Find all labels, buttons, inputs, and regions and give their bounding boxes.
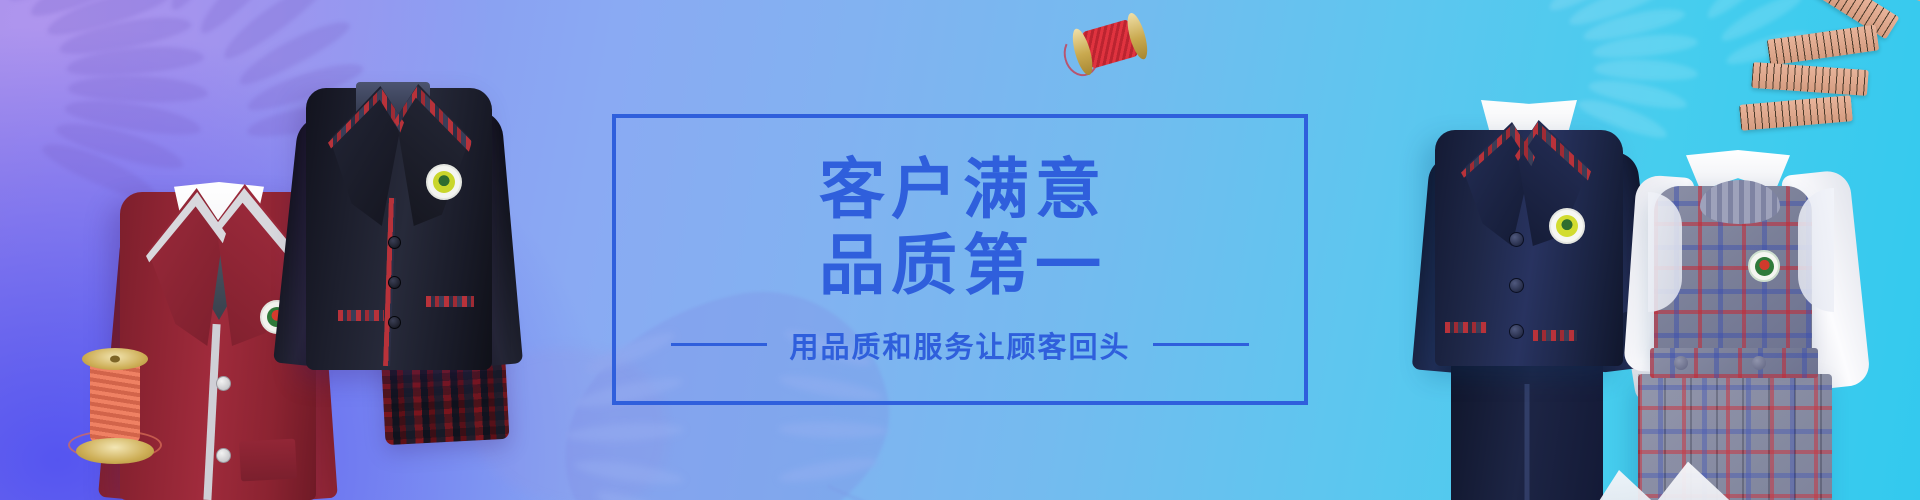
- product-dark-blazer: [290, 58, 506, 398]
- measuring-tape-icon: [1742, 0, 1920, 152]
- blazer-button: [388, 276, 401, 289]
- orange-thread-spool-icon: [72, 348, 158, 464]
- blazer-button: [216, 376, 231, 391]
- headline-block: 客户满意 品质第一 用品质和服务让顾客回头: [612, 114, 1308, 405]
- armhole-right: [1798, 188, 1834, 312]
- waistband-button: [1674, 356, 1688, 370]
- promo-banner: 客户满意 品质第一 用品质和服务让顾客回头: [0, 0, 1920, 500]
- blazer-button: [388, 236, 401, 249]
- rule-right: [1153, 343, 1249, 346]
- school-badge-icon: [1549, 208, 1585, 244]
- rule-left: [671, 343, 767, 346]
- neck-ruffle: [1700, 180, 1780, 224]
- blazer-pocket: [239, 439, 297, 482]
- product-plaid-pinafore: [1630, 130, 1856, 500]
- school-badge-icon: [426, 164, 462, 200]
- waistband-button: [1752, 356, 1766, 370]
- suit-trousers: [1451, 358, 1603, 500]
- product-navy-suit: [1425, 96, 1633, 500]
- armhole-left: [1648, 192, 1682, 312]
- suit-button: [1509, 324, 1524, 339]
- blazer-button: [216, 448, 231, 463]
- subtitle-text: 用品质和服务让顾客回头: [789, 324, 1130, 366]
- suit-button: [1509, 278, 1524, 293]
- school-badge-icon: [1748, 250, 1780, 282]
- pocket-trim-left: [1445, 322, 1487, 333]
- headline-line-1: 客户满意: [813, 154, 1107, 226]
- subtitle-row: 用品质和服务让顾客回头: [612, 324, 1308, 366]
- pocket-trim-left: [338, 310, 384, 321]
- headline-line-2: 品质第一: [813, 230, 1107, 302]
- pocket-trim-right: [1533, 330, 1577, 341]
- pocket-trim-right: [426, 296, 474, 307]
- pinafore-skirt: [1638, 374, 1832, 500]
- red-thread-spool-icon: [1067, 10, 1153, 77]
- blazer-button: [388, 316, 401, 329]
- suit-button: [1509, 232, 1524, 247]
